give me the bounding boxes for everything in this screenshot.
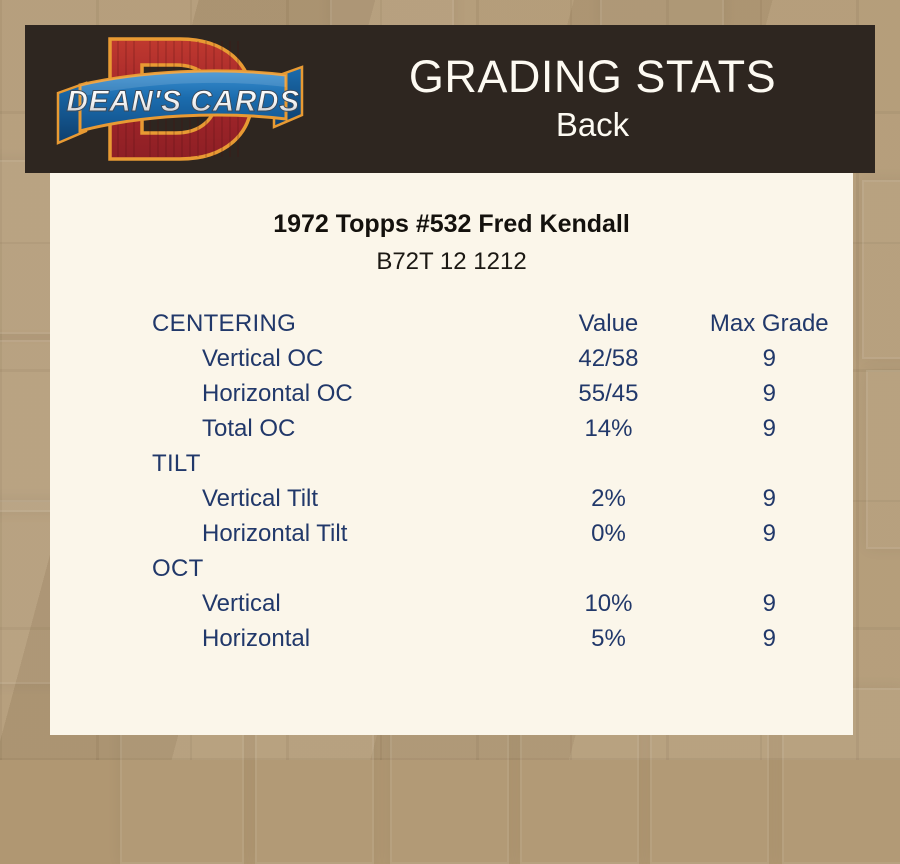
- stats-row: Horizontal5%9: [50, 621, 853, 656]
- stats-row-value: 42/58: [531, 341, 685, 376]
- stats-row-max-grade: 9: [686, 481, 853, 516]
- background-card-ghost: [862, 180, 900, 359]
- stats-section-header: TILT: [50, 446, 853, 481]
- stats-section-grade-spacer: [686, 551, 853, 586]
- stats-section-grade-spacer: [686, 446, 853, 481]
- stats-row-value: 0%: [531, 516, 685, 551]
- stats-row: Vertical Tilt2%9: [50, 481, 853, 516]
- stats-row-label: Horizontal: [50, 621, 531, 656]
- stats-section-value-spacer: [531, 446, 685, 481]
- stats-row-max-grade: 9: [686, 516, 853, 551]
- grading-stats-table: CENTERINGValueMax GradeVertical OC42/589…: [50, 306, 853, 656]
- stats-section-header: CENTERINGValueMax Grade: [50, 306, 853, 341]
- column-header-max-grade: Max Grade: [686, 306, 853, 341]
- stats-row: Total OC14%9: [50, 411, 853, 446]
- stats-row-value: 55/45: [531, 376, 685, 411]
- stats-row-max-grade: 9: [686, 621, 853, 656]
- stats-section-label: TILT: [50, 446, 531, 481]
- background-card-ghost: [866, 370, 900, 549]
- stats-row-value: 5%: [531, 621, 685, 656]
- header-title-block: GRADING STATS Back: [310, 25, 875, 173]
- stats-row-value: 10%: [531, 586, 685, 621]
- stats-section-value-spacer: [531, 551, 685, 586]
- stats-row-label: Vertical: [50, 586, 531, 621]
- header-bar: DEAN'S CARDS GRADING STATS Back: [25, 25, 875, 173]
- stats-row-label: Total OC: [50, 411, 531, 446]
- stats-row: Horizontal OC55/459: [50, 376, 853, 411]
- stats-row-max-grade: 9: [686, 376, 853, 411]
- stats-row-value: 2%: [531, 481, 685, 516]
- stats-row-max-grade: 9: [686, 411, 853, 446]
- page-subtitle: Back: [556, 104, 629, 145]
- stats-row-max-grade: 9: [686, 586, 853, 621]
- card-code: B72T 12 1212: [50, 239, 853, 277]
- stats-row: Vertical OC42/589: [50, 341, 853, 376]
- page-title: GRADING STATS: [409, 53, 776, 100]
- stats-row-value: 14%: [531, 411, 685, 446]
- deans-cards-logo[interactable]: DEAN'S CARDS: [50, 31, 310, 167]
- content-panel: 1972 Topps #532 Fred Kendall B72T 12 121…: [50, 173, 853, 735]
- logo-banner-text: DEAN'S CARDS: [66, 85, 299, 118]
- stats-row: Horizontal Tilt0%9: [50, 516, 853, 551]
- stats-section-label: CENTERING: [50, 306, 531, 341]
- stats-row: Vertical10%9: [50, 586, 853, 621]
- stats-section-label: OCT: [50, 551, 531, 586]
- stats-section-header: OCT: [50, 551, 853, 586]
- stats-row-max-grade: 9: [686, 341, 853, 376]
- stats-row-label: Horizontal OC: [50, 376, 531, 411]
- stats-row-label: Vertical OC: [50, 341, 531, 376]
- column-header-value: Value: [531, 306, 685, 341]
- card-title: 1972 Topps #532 Fred Kendall: [50, 173, 853, 239]
- stats-row-label: Vertical Tilt: [50, 481, 531, 516]
- stats-row-label: Horizontal Tilt: [50, 516, 531, 551]
